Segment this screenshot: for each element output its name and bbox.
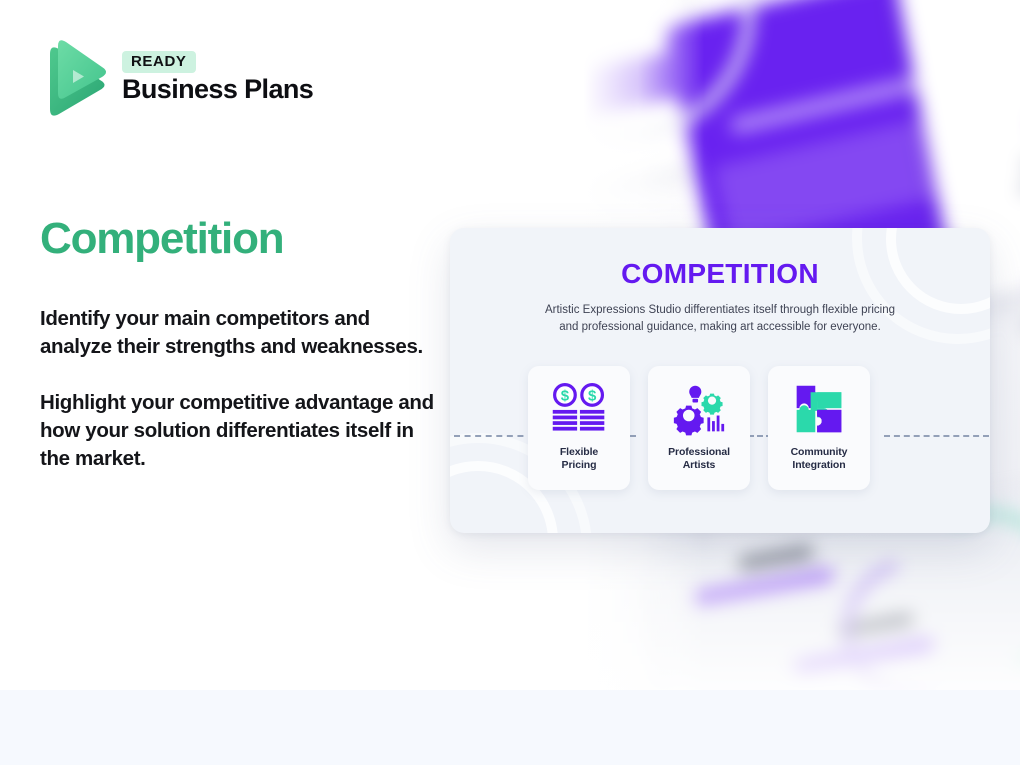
feature-label-community-integration: Community Integration xyxy=(791,446,848,473)
feature-label-flexible-pricing: Flexible Pricing xyxy=(560,446,598,473)
ready-badge: READY xyxy=(122,51,196,73)
feature-label-line-2: Artists xyxy=(683,459,716,471)
page-title: Competition xyxy=(40,216,283,262)
feature-label-line-1: Professional xyxy=(668,446,730,458)
feature-label-professional-artists: Professional Artists xyxy=(668,446,730,473)
background-bottom-fade xyxy=(584,540,1020,690)
bottom-band xyxy=(0,690,1020,765)
feature-card-community-integration[interactable]: Community Integration xyxy=(768,366,870,490)
feature-label-line-2: Pricing xyxy=(562,459,597,471)
feature-card-flexible-pricing[interactable]: $ $ xyxy=(528,366,630,490)
feature-label-line-1: Flexible xyxy=(560,446,598,458)
brand-logo[interactable]: READY Business Plans xyxy=(40,40,313,116)
svg-text:$: $ xyxy=(588,388,597,405)
gears-lightbulb-icon xyxy=(664,378,734,440)
body-paragraph-1: Identify your main competitors and analy… xyxy=(40,305,435,362)
coin-stacks-icon: $ $ xyxy=(544,378,614,440)
body-copy: Identify your main competitors and analy… xyxy=(40,305,435,473)
slide-preview-card[interactable]: COMPETITION Artistic Expressions Studio … xyxy=(450,228,990,533)
svg-text:$: $ xyxy=(561,388,570,405)
feature-label-line-2: Integration xyxy=(792,459,845,471)
slide-preview-page: READY Business Plans Competition Identif… xyxy=(0,0,1020,765)
connector-dash-right xyxy=(884,435,989,437)
puzzle-pieces-icon xyxy=(784,378,854,440)
slide-subtitle: Artistic Expressions Studio differentiat… xyxy=(540,302,900,335)
connector-dash-left xyxy=(454,435,534,437)
brand-name: Business Plans xyxy=(122,75,313,105)
feature-card-row: $ $ xyxy=(528,366,870,490)
body-paragraph-2: Highlight your competitive advantage and… xyxy=(40,389,435,474)
feature-label-line-1: Community xyxy=(791,446,848,458)
play-triangle-logo-icon xyxy=(40,40,108,116)
slide-title: COMPETITION xyxy=(450,258,990,290)
feature-card-professional-artists[interactable]: Professional Artists xyxy=(648,366,750,490)
